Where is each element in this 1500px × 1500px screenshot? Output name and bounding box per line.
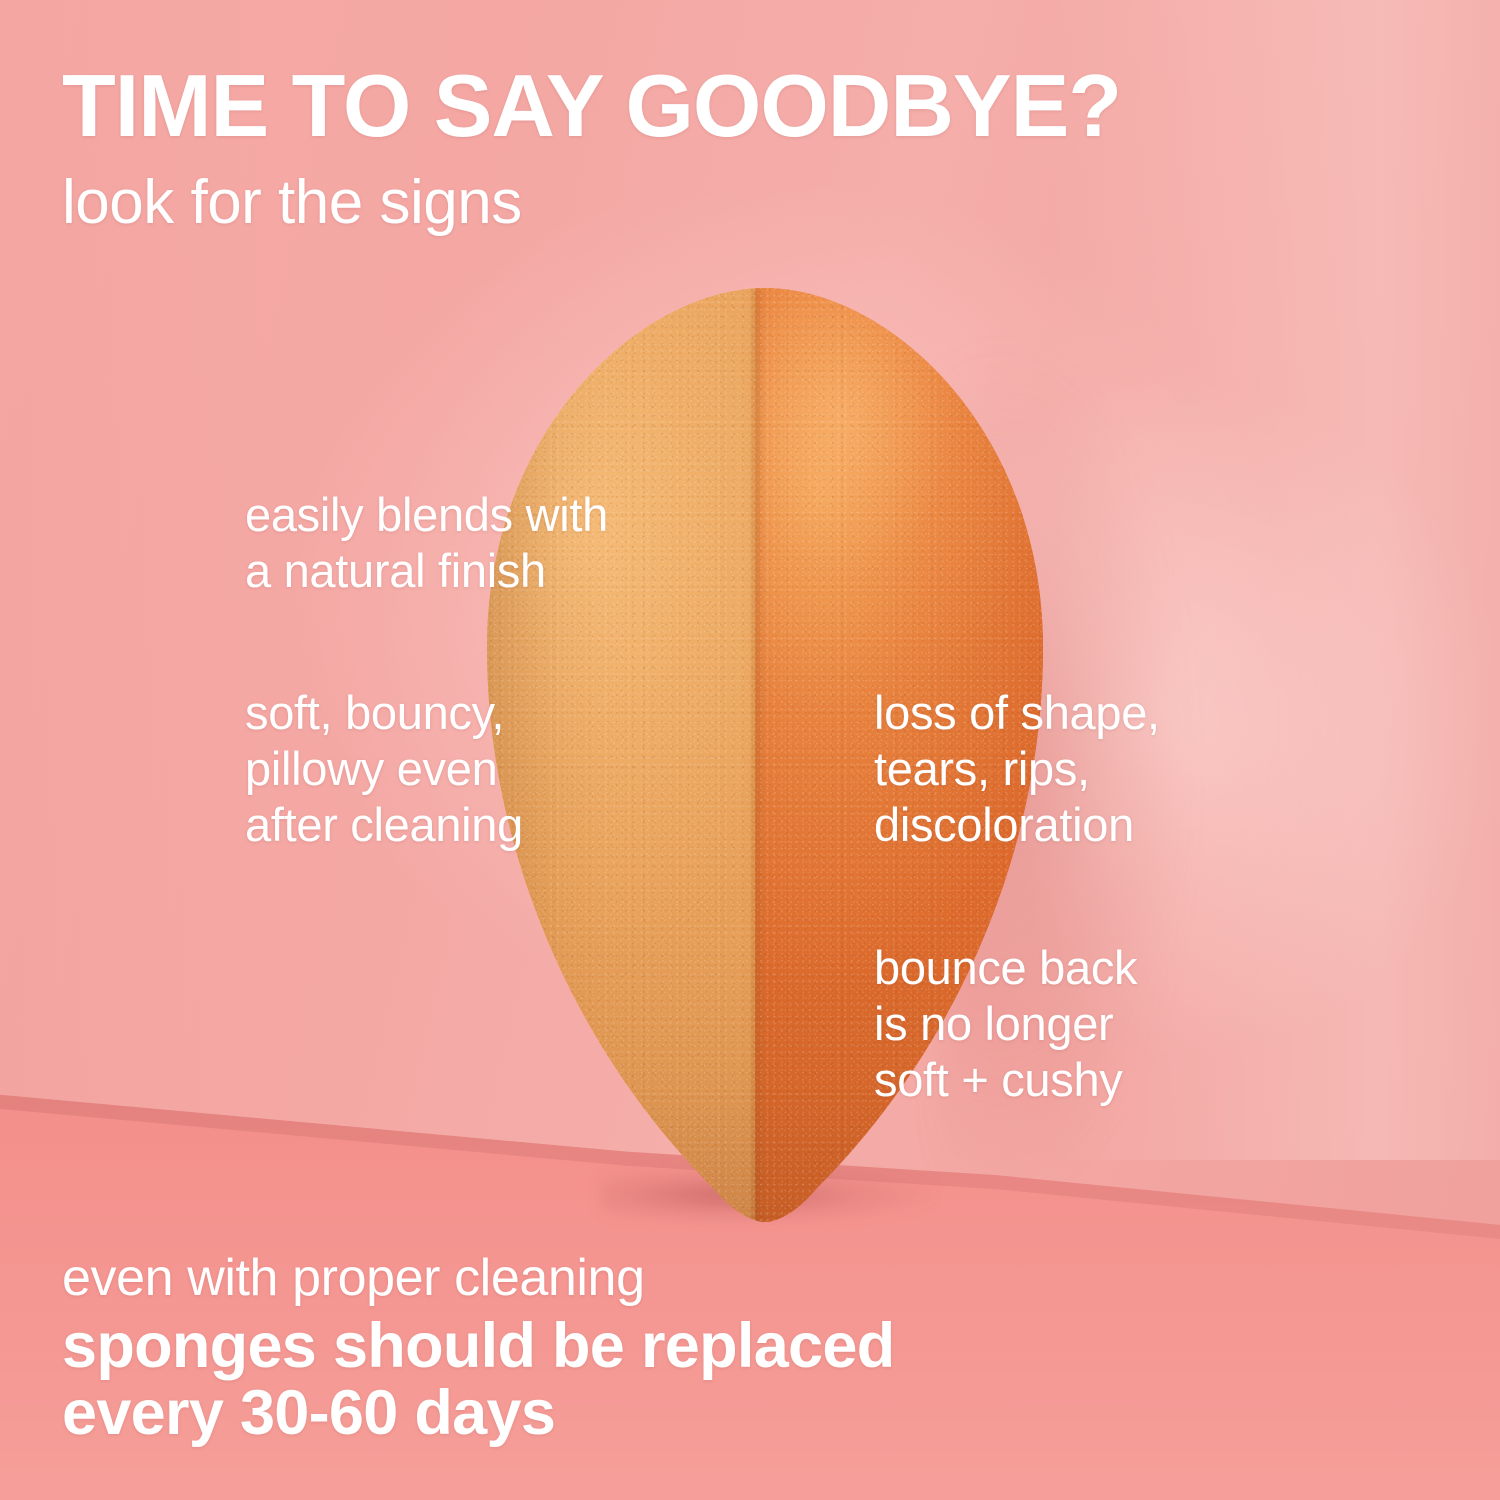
footer-lead-text: even with proper cleaning (62, 1252, 645, 1304)
page-title: TIME TO SAY GOODBYE? (62, 62, 1121, 150)
callout-loss-of-shape: loss of shape, tears, rips, discoloratio… (874, 685, 1160, 853)
callout-easily-blends: easily blends with a natural finish (245, 487, 608, 599)
callout-bounce-back: bounce back is no longer soft + cushy (874, 940, 1137, 1108)
callout-soft-bouncy: soft, bouncy, pillowy even after cleanin… (245, 685, 523, 853)
page-subtitle: look for the signs (62, 172, 522, 234)
infographic-canvas: TIME TO SAY GOODBYE? look for the signs … (0, 0, 1500, 1500)
footer-main-text: sponges should be replaced every 30-60 d… (62, 1313, 895, 1448)
